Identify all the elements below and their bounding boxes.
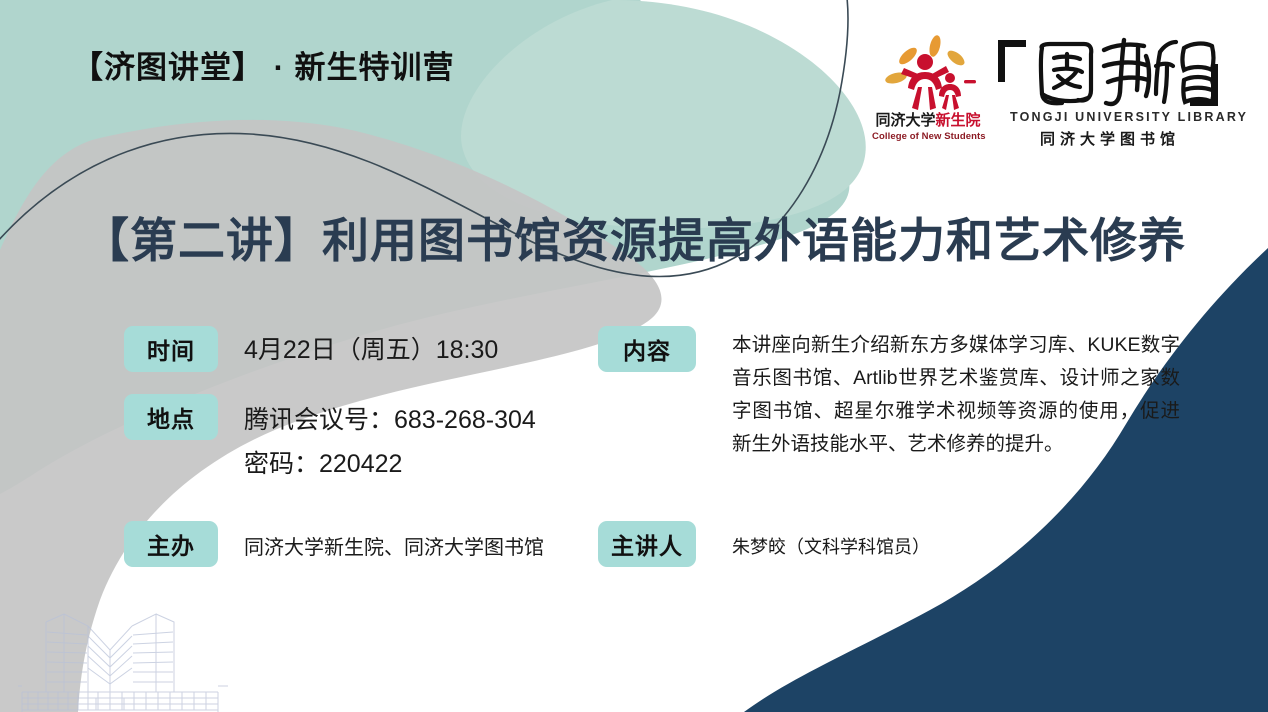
- value-speaker: 朱梦皎（文科学科馆员）: [732, 533, 930, 559]
- new-students-figures-icon: [878, 32, 978, 114]
- cns-name-black: 同济大学: [875, 112, 935, 129]
- label-chip-speaker: 主讲人: [598, 521, 696, 567]
- value-time: 4月22日（周五）18:30: [244, 330, 498, 366]
- value-place-meeting: 腾讯会议号：683-268-304: [244, 398, 536, 442]
- tongji-library-name-cn: 同济大学图书馆: [1010, 128, 1210, 149]
- tongji-library-name-en: TONGJI UNIVERSITY LIBRARY: [1010, 110, 1210, 124]
- lecture-headline: 【第二讲】利用图书馆资源提高外语能力和艺术修养: [0, 202, 1268, 271]
- library-calligraphy-icon: [992, 32, 1224, 114]
- label-chip-time: 时间: [124, 326, 218, 372]
- college-of-new-students-name-cn: 同济大学新生院: [872, 112, 984, 129]
- cns-name-red: 新生院: [936, 112, 981, 129]
- tongji-library-logo: TONGJI UNIVERSITY LIBRARY 同济大学图书馆: [992, 32, 1224, 154]
- college-of-new-students-logo: 同济大学新生院 College of New Students: [872, 32, 984, 144]
- college-of-new-students-name-en: College of New Students: [872, 131, 984, 142]
- label-chip-content: 内容: [598, 326, 696, 372]
- library-building-illustration: [18, 588, 228, 712]
- poster-canvas: 【济图讲堂】 · 新生特训营: [0, 0, 1268, 712]
- label-chip-host: 主办: [124, 521, 218, 567]
- logo-group: 同济大学新生院 College of New Students: [872, 32, 1224, 154]
- value-place: 腾讯会议号：683-268-304 密码：220422: [244, 398, 536, 486]
- value-content: 本讲座向新生介绍新东方多媒体学习库、KUKE数字音乐图书馆、Artlib世界艺术…: [732, 329, 1180, 461]
- page-kicker-title: 【济图讲堂】 · 新生特训营: [72, 42, 455, 87]
- value-place-password: 密码：220422: [244, 442, 536, 486]
- label-chip-place: 地点: [124, 394, 218, 440]
- value-host: 同济大学新生院、同济大学图书馆: [244, 531, 544, 560]
